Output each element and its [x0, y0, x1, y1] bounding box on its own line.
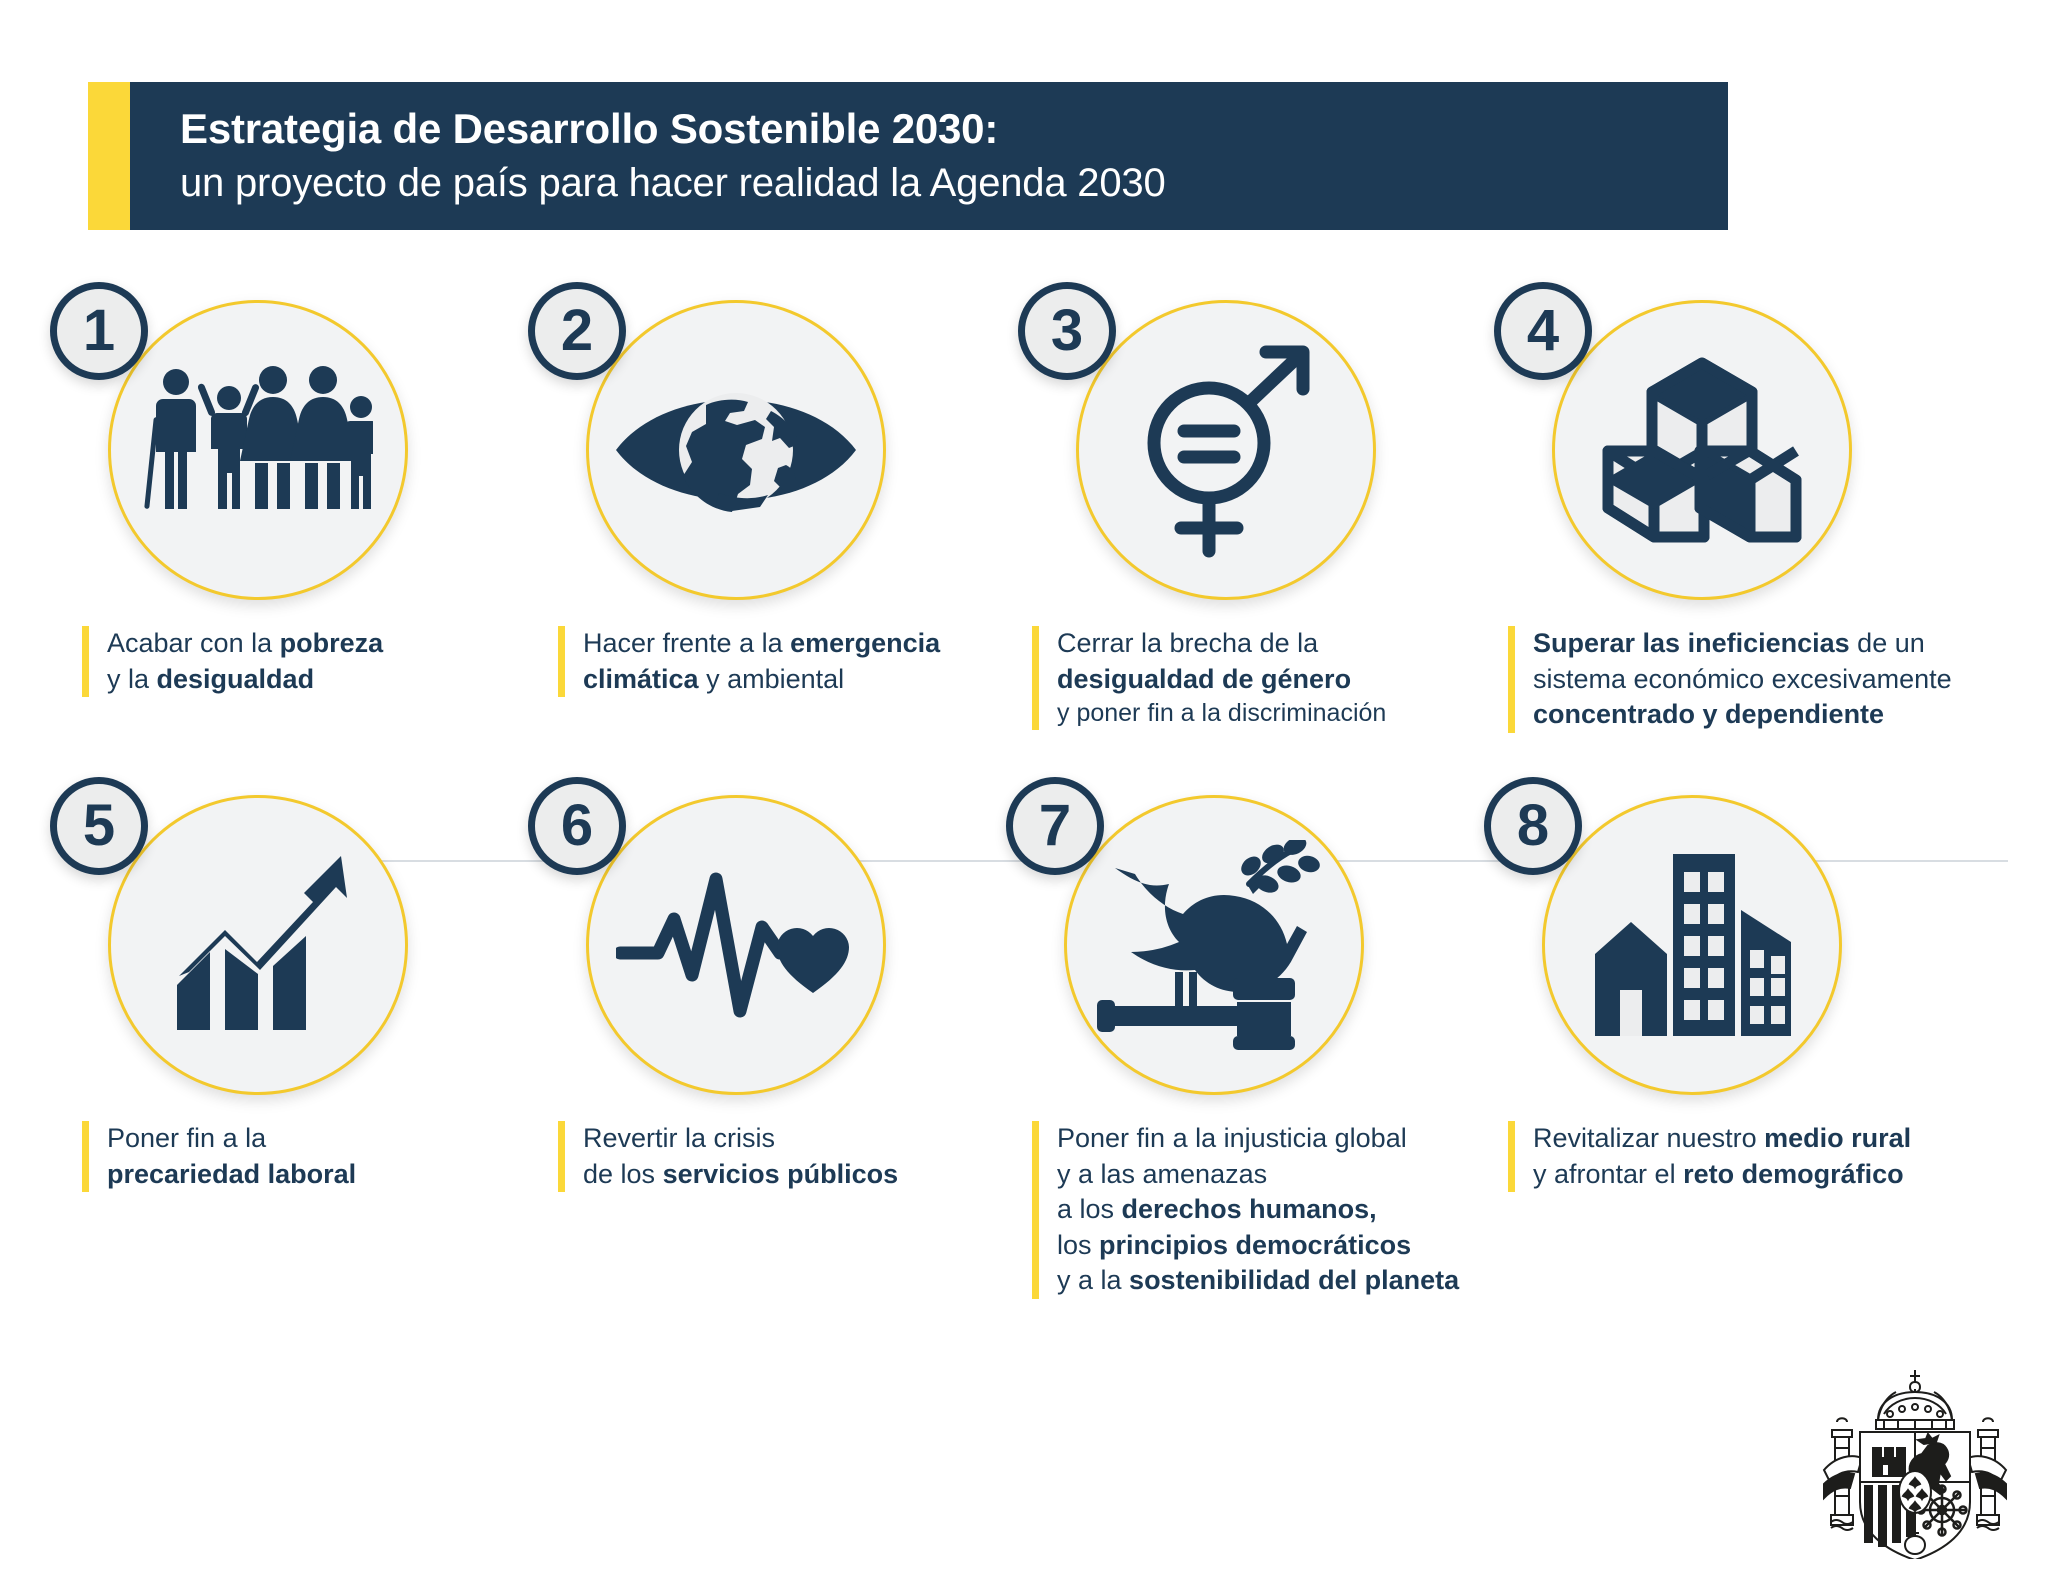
card-5-caption: Poner fin a la precariedad laboral — [82, 1121, 478, 1192]
card-7-disc — [1064, 795, 1364, 1095]
card-5-disc — [108, 795, 408, 1095]
card-4-disc — [1552, 300, 1852, 600]
bar-chart-growth-icon — [163, 850, 353, 1040]
caption-line: a los derechos humanos, — [1057, 1192, 1434, 1228]
card-7-icon-wrap: 7 — [1064, 795, 1364, 1095]
card-1-caption: Acabar con la pobreza y la desigualdad — [82, 626, 478, 697]
card-2-icon-wrap: 2 — [586, 300, 886, 600]
page-title: Estrategia de Desarrollo Sostenible 2030… — [180, 105, 1728, 154]
dove-gavel-icon — [1097, 840, 1332, 1050]
card-4-number-badge: 4 — [1494, 282, 1592, 380]
caption-line: Acabar con la pobreza — [107, 626, 478, 662]
card-1-icon-wrap: 1 — [108, 300, 408, 600]
caption-line: y poner fin a la discriminación — [1057, 697, 1434, 730]
card-5[interactable]: 5 Poner fin a la precariedad laboral — [0, 795, 478, 1299]
cards-grid: 1 Acabar con la pobreza y la desigualdad — [0, 300, 2048, 1299]
caption-line: Poner fin a la injusticia global — [1057, 1121, 1434, 1157]
card-8-caption: Revitalizar nuestro medio rural y afront… — [1508, 1121, 1912, 1192]
card-2[interactable]: 2 Hacer frente a la emergencia climática… — [478, 300, 956, 733]
card-2-disc — [586, 300, 886, 600]
card-2-caption: Hacer frente a la emergencia climática y… — [558, 626, 956, 697]
card-1[interactable]: 1 Acabar con la pobreza y la desigualdad — [0, 300, 478, 733]
header-text-block: Estrategia de Desarrollo Sostenible 2030… — [130, 82, 1728, 230]
card-6-number-badge: 6 — [528, 777, 626, 875]
gender-equality-icon — [1131, 343, 1321, 558]
card-5-icon-wrap: 5 — [108, 795, 408, 1095]
card-7[interactable]: 7 Poner fin a la injusticia global y a l… — [956, 795, 1434, 1299]
caption-line: y afrontar el reto demográfico — [1533, 1157, 1912, 1193]
card-7-number-badge: 7 — [1006, 777, 1104, 875]
caption-line: climática y ambiental — [583, 662, 956, 698]
eye-globe-icon — [611, 375, 861, 525]
heartbeat-icon — [616, 865, 856, 1025]
card-8-disc — [1542, 795, 1842, 1095]
card-7-caption: Poner fin a la injusticia global y a las… — [1032, 1121, 1434, 1299]
caption-line: Revitalizar nuestro medio rural — [1533, 1121, 1912, 1157]
card-6-icon-wrap: 6 — [586, 795, 886, 1095]
card-3-disc — [1076, 300, 1376, 600]
buildings-rural-icon — [1587, 850, 1797, 1040]
caption-line: desigualdad de género — [1057, 662, 1434, 698]
card-6-disc — [586, 795, 886, 1095]
caption-line: concentrado y dependiente — [1533, 697, 1912, 733]
caption-line: precariedad laboral — [107, 1157, 478, 1193]
card-3-icon-wrap: 3 — [1076, 300, 1376, 600]
caption-line: los principios democráticos — [1057, 1228, 1434, 1264]
caption-line: y la desigualdad — [107, 662, 478, 698]
card-5-number-badge: 5 — [50, 777, 148, 875]
card-8[interactable]: 8 Revitalizar nuestro medio rural y afro… — [1434, 795, 1912, 1299]
caption-line: Poner fin a la — [107, 1121, 478, 1157]
caption-line: Revertir la crisis — [583, 1121, 956, 1157]
family-group-icon — [143, 365, 373, 535]
card-3[interactable]: 3 Cerrar la brecha de la desigualdad de … — [956, 300, 1434, 733]
caption-line: sistema económico excesivamente — [1533, 662, 1912, 698]
caption-line: Cerrar la brecha de la — [1057, 626, 1434, 662]
cards-row-2: 5 Poner fin a la precariedad laboral 6 R… — [0, 795, 2048, 1299]
caption-line: y a la sostenibilidad del planeta — [1057, 1263, 1434, 1299]
caption-line: y a las amenazas — [1057, 1157, 1434, 1193]
card-2-number-badge: 2 — [528, 282, 626, 380]
card-1-number-badge: 1 — [50, 282, 148, 380]
caption-line: de los servicios públicos — [583, 1157, 956, 1193]
card-6[interactable]: 6 Revertir la crisis de los servicios pú… — [478, 795, 956, 1299]
card-8-icon-wrap: 8 — [1542, 795, 1842, 1095]
card-4-caption: Superar las ineficiencias de un sistema … — [1508, 626, 1912, 733]
caption-line: Superar las ineficiencias de un — [1533, 626, 1912, 662]
card-6-caption: Revertir la crisis de los servicios públ… — [558, 1121, 956, 1192]
cards-row-1: 1 Acabar con la pobreza y la desigualdad — [0, 300, 2048, 733]
card-4[interactable]: 4 Superar las ineficiencias de un sistem… — [1434, 300, 1912, 733]
cubes-icon — [1602, 353, 1802, 548]
spain-coat-of-arms — [1820, 1364, 2010, 1559]
header-accent-bar — [88, 82, 130, 230]
caption-line: Hacer frente a la emergencia — [583, 626, 956, 662]
card-8-number-badge: 8 — [1484, 777, 1582, 875]
card-3-caption: Cerrar la brecha de la desigualdad de gé… — [1032, 626, 1434, 730]
card-4-icon-wrap: 4 — [1552, 300, 1852, 600]
card-1-disc — [108, 300, 408, 600]
header-banner: Estrategia de Desarrollo Sostenible 2030… — [88, 82, 1728, 230]
card-3-number-badge: 3 — [1018, 282, 1116, 380]
page-subtitle: un proyecto de país para hacer realidad … — [180, 160, 1728, 207]
